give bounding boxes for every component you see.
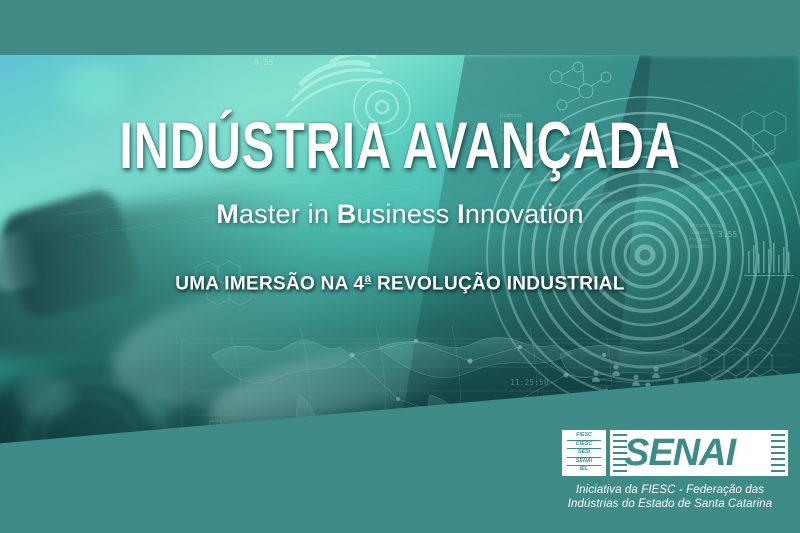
fiesc-system-acronym-box: FIESC CIESC SESI SENAI IEL [562,430,606,476]
acronym-iel: IEL [567,466,601,473]
acronym-sesi: SESI [567,449,601,457]
senai-logo: FIESC CIESC SESI SENAI IEL SENAI Iniciat… [552,430,788,511]
senai-right-bars-icon [771,434,785,472]
acronym-ciesc: CIESC [567,441,601,449]
poster-canvas: Innovation Branding Solution Marketing A… [0,0,800,533]
senai-tagline: Iniciativa da FIESC - Federação das Indú… [552,483,788,511]
acronym-senai: SENAI [567,458,601,466]
senai-wordmark: SENAI [610,434,735,472]
acronym-fiesc: FIESC [567,432,601,440]
senai-wordmark-box: SENAI [610,430,788,476]
senai-logo-mark: FIESC CIESC SESI SENAI IEL SENAI [562,430,788,476]
senai-tagline-line2: Indústrias do Estado de Santa Catarina [552,497,788,511]
senai-tagline-line1: Iniciativa da FIESC - Federação das [552,483,788,497]
